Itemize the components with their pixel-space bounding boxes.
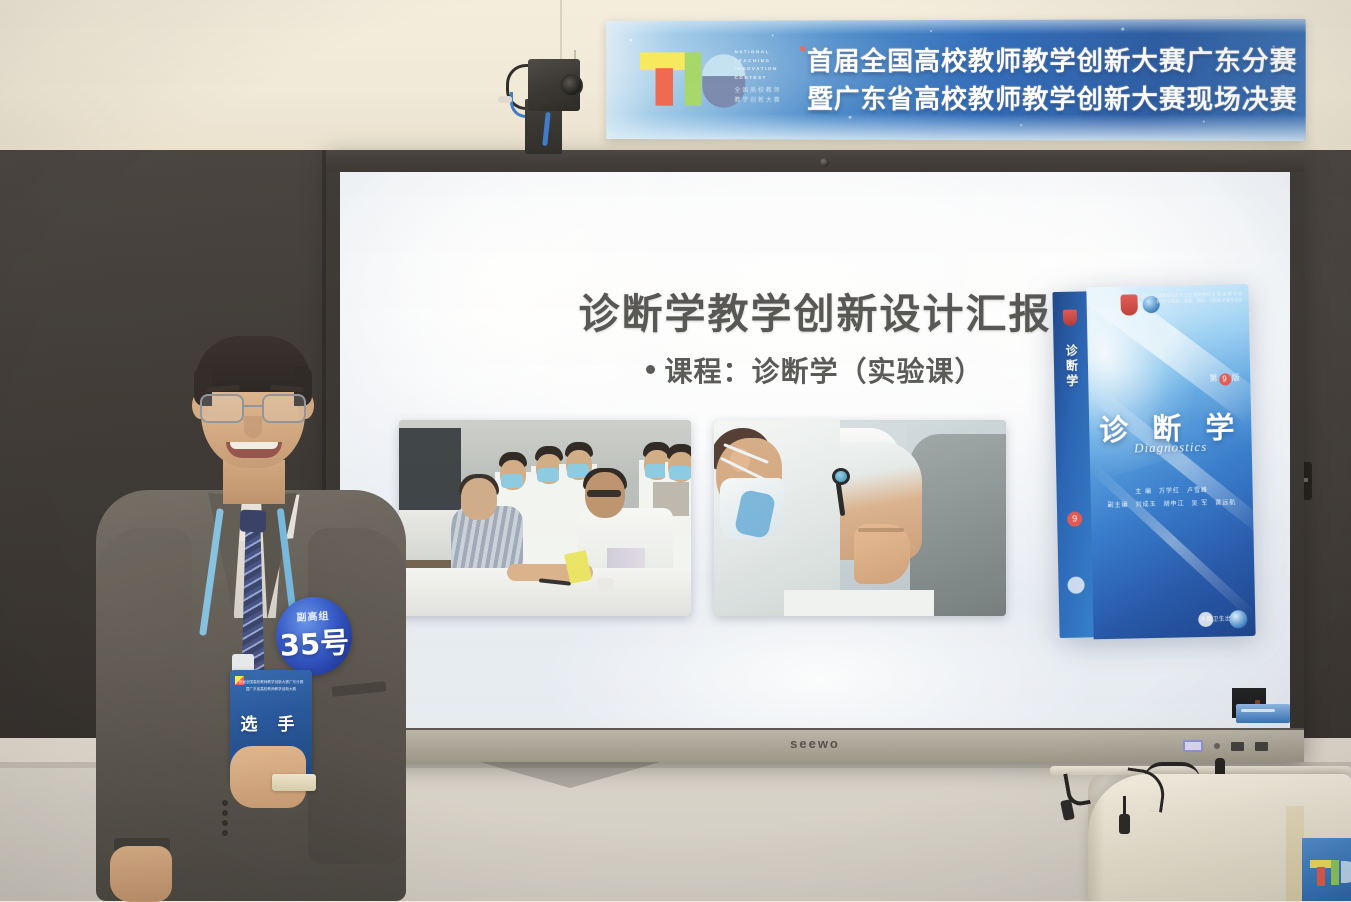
textbook-spine-edition: 9 [1067,512,1082,527]
presentation-screen[interactable]: 诊断学教学创新设计汇报 课程：诊断学（实验课） [340,172,1290,728]
board-port-panel[interactable] [1183,740,1268,752]
photo2-stethoscope-icon [832,468,850,485]
camera-cable-plug [498,96,512,103]
photo2-hand [854,524,910,584]
textbook-spine-emblem [1063,310,1077,326]
board-status-led [1236,704,1290,723]
presenter-hair [196,336,310,392]
presenter-hand-left [110,846,172,902]
photo1-student-mask [645,464,667,478]
competition-banner: NATIONAL TEACHING INNOVATION CONTEST 全国高… [606,19,1306,141]
id-card-header: 首届全国高校教师教学创新大赛广东分赛 暨广东省高校教师教学创新大赛 [235,679,307,693]
tic-logo-chinese-text: 全国高校教师 教学创新大赛 [734,86,809,106]
indicator-dot-icon [1214,743,1220,749]
board-camera-icon [820,158,829,167]
slide-bullet-text: 课程：诊断学（实验课） [664,355,983,388]
photo2-bed [784,590,934,616]
presenter-teeth [230,442,278,449]
photo1-student-mask [669,466,691,480]
smart-board[interactable]: 诊断学教学创新设计汇报 课程：诊断学（实验课） [326,150,1304,762]
blackboard-panel-right [1300,150,1351,738]
textbook-publisher-logo-icon [1198,612,1213,627]
textbook-diagnostics: 诊断学 9 国家卫生健康委员会“十三五”规划教材 全 国 高 等 学 校 教 材… [1052,284,1255,640]
logo-shape-green [1331,860,1339,885]
logo-shape-red [1317,867,1325,886]
tic-logo-english-text: NATIONAL TEACHING INNOVATION CONTEST [734,48,807,83]
podium-edge [1088,774,1104,901]
classroom-scene: 诊断学教学创新设计汇报 课程：诊断学（实验课） [0,0,1351,901]
edition-number: 9 [1219,373,1231,385]
side-banner-tic-logo [1310,860,1350,892]
textbook-subtitle: Diagnostics [1090,438,1252,457]
hdmi-port-icon[interactable] [1255,742,1268,751]
logo-red-dot-icon [800,46,805,51]
usb-port-icon[interactable] [1183,740,1203,752]
presenter-tie-knot [240,510,267,533]
camera-lens-icon [560,74,583,97]
banner-title-line-1: 首届全国高校教师教学创新大赛广东分赛 [807,43,1302,81]
slide-photo-ward-teaching [399,420,691,616]
presenter-clicker-remote[interactable] [272,774,316,791]
photo1-patient-head [461,478,497,520]
photo1-doctor-glasses [587,490,621,497]
smart-board-top-bezel [326,150,1304,172]
slide-photo-auscultation [714,420,1006,616]
smart-board-bottom-bezel: seewo [326,728,1304,762]
textbook-authors: 主 编 万学红 卢雪峰 副主编 刘成玉 胡申江 吴 军 黄远航 [1091,484,1254,514]
edition-suffix: 版 [1232,373,1241,382]
banner-title-block: 首届全国高校教师教学创新大赛广东分赛 暨广东省高校教师教学创新大赛现场决赛 [807,43,1302,120]
wall-mounted-camera [514,50,580,154]
photo1-student-mask [537,468,559,482]
glasses-lens-left [200,394,244,423]
textbook-spine-title: 诊断学 [1061,343,1084,388]
hdmi-port-icon[interactable] [1231,742,1244,751]
photo2-patient-gown [910,434,1006,616]
banner-bottom-glow [606,113,1306,141]
presenter-left-arm [96,528,192,858]
mic-capsule-icon [1119,814,1130,834]
edition-prefix: 第 [1209,374,1218,383]
bullet-dot-icon [646,365,655,374]
textbook-publisher: 人民卫生出版社 [1093,614,1243,625]
logo-shape-green [685,52,702,105]
smart-board-stand [480,762,660,788]
textbook-publisher-globe-icon [1229,610,1247,628]
textbook-front-cover: 国家卫生健康委员会“十三五”规划教材 全 国 高 等 学 校 教 材 供临床、基… [1086,284,1255,639]
presenter-cuff-buttons [222,800,238,842]
textbook-national-emblem-icon [1120,294,1137,315]
id-card-role: 选 手 [230,710,312,735]
photo1-student-mask [501,474,523,488]
textbook-header-text: 国家卫生健康委员会“十三五”规划教材 全 国 高 等 学 校 教 材 供临床、基… [1138,291,1243,323]
textbook-spine-logo [1067,576,1084,593]
gooseneck-microphone[interactable] [1113,770,1169,832]
photo2-fingers [858,528,904,532]
glasses-bridge [244,405,262,407]
logo-shape-red [656,68,673,105]
side-banner [1302,838,1351,901]
textbook-edition-mark: 第9版 [1209,372,1240,386]
photo1-wristwatch [597,578,614,591]
presenter-right-arm [308,528,406,864]
mic-gooseneck [1122,767,1167,812]
logo-shape-lightblue [1341,861,1351,883]
presenter-mouth [226,442,282,458]
presenter: 副高组 35号 首届全国高校教师教学创新大赛广东分赛 暨广东省高校教师教学创新大… [86,332,416,901]
presenter-nose [244,416,262,438]
smart-board-brand-logo: seewo [326,736,1304,751]
glasses-lens-right [262,394,306,423]
badge-number-label: 35号 [275,619,353,665]
